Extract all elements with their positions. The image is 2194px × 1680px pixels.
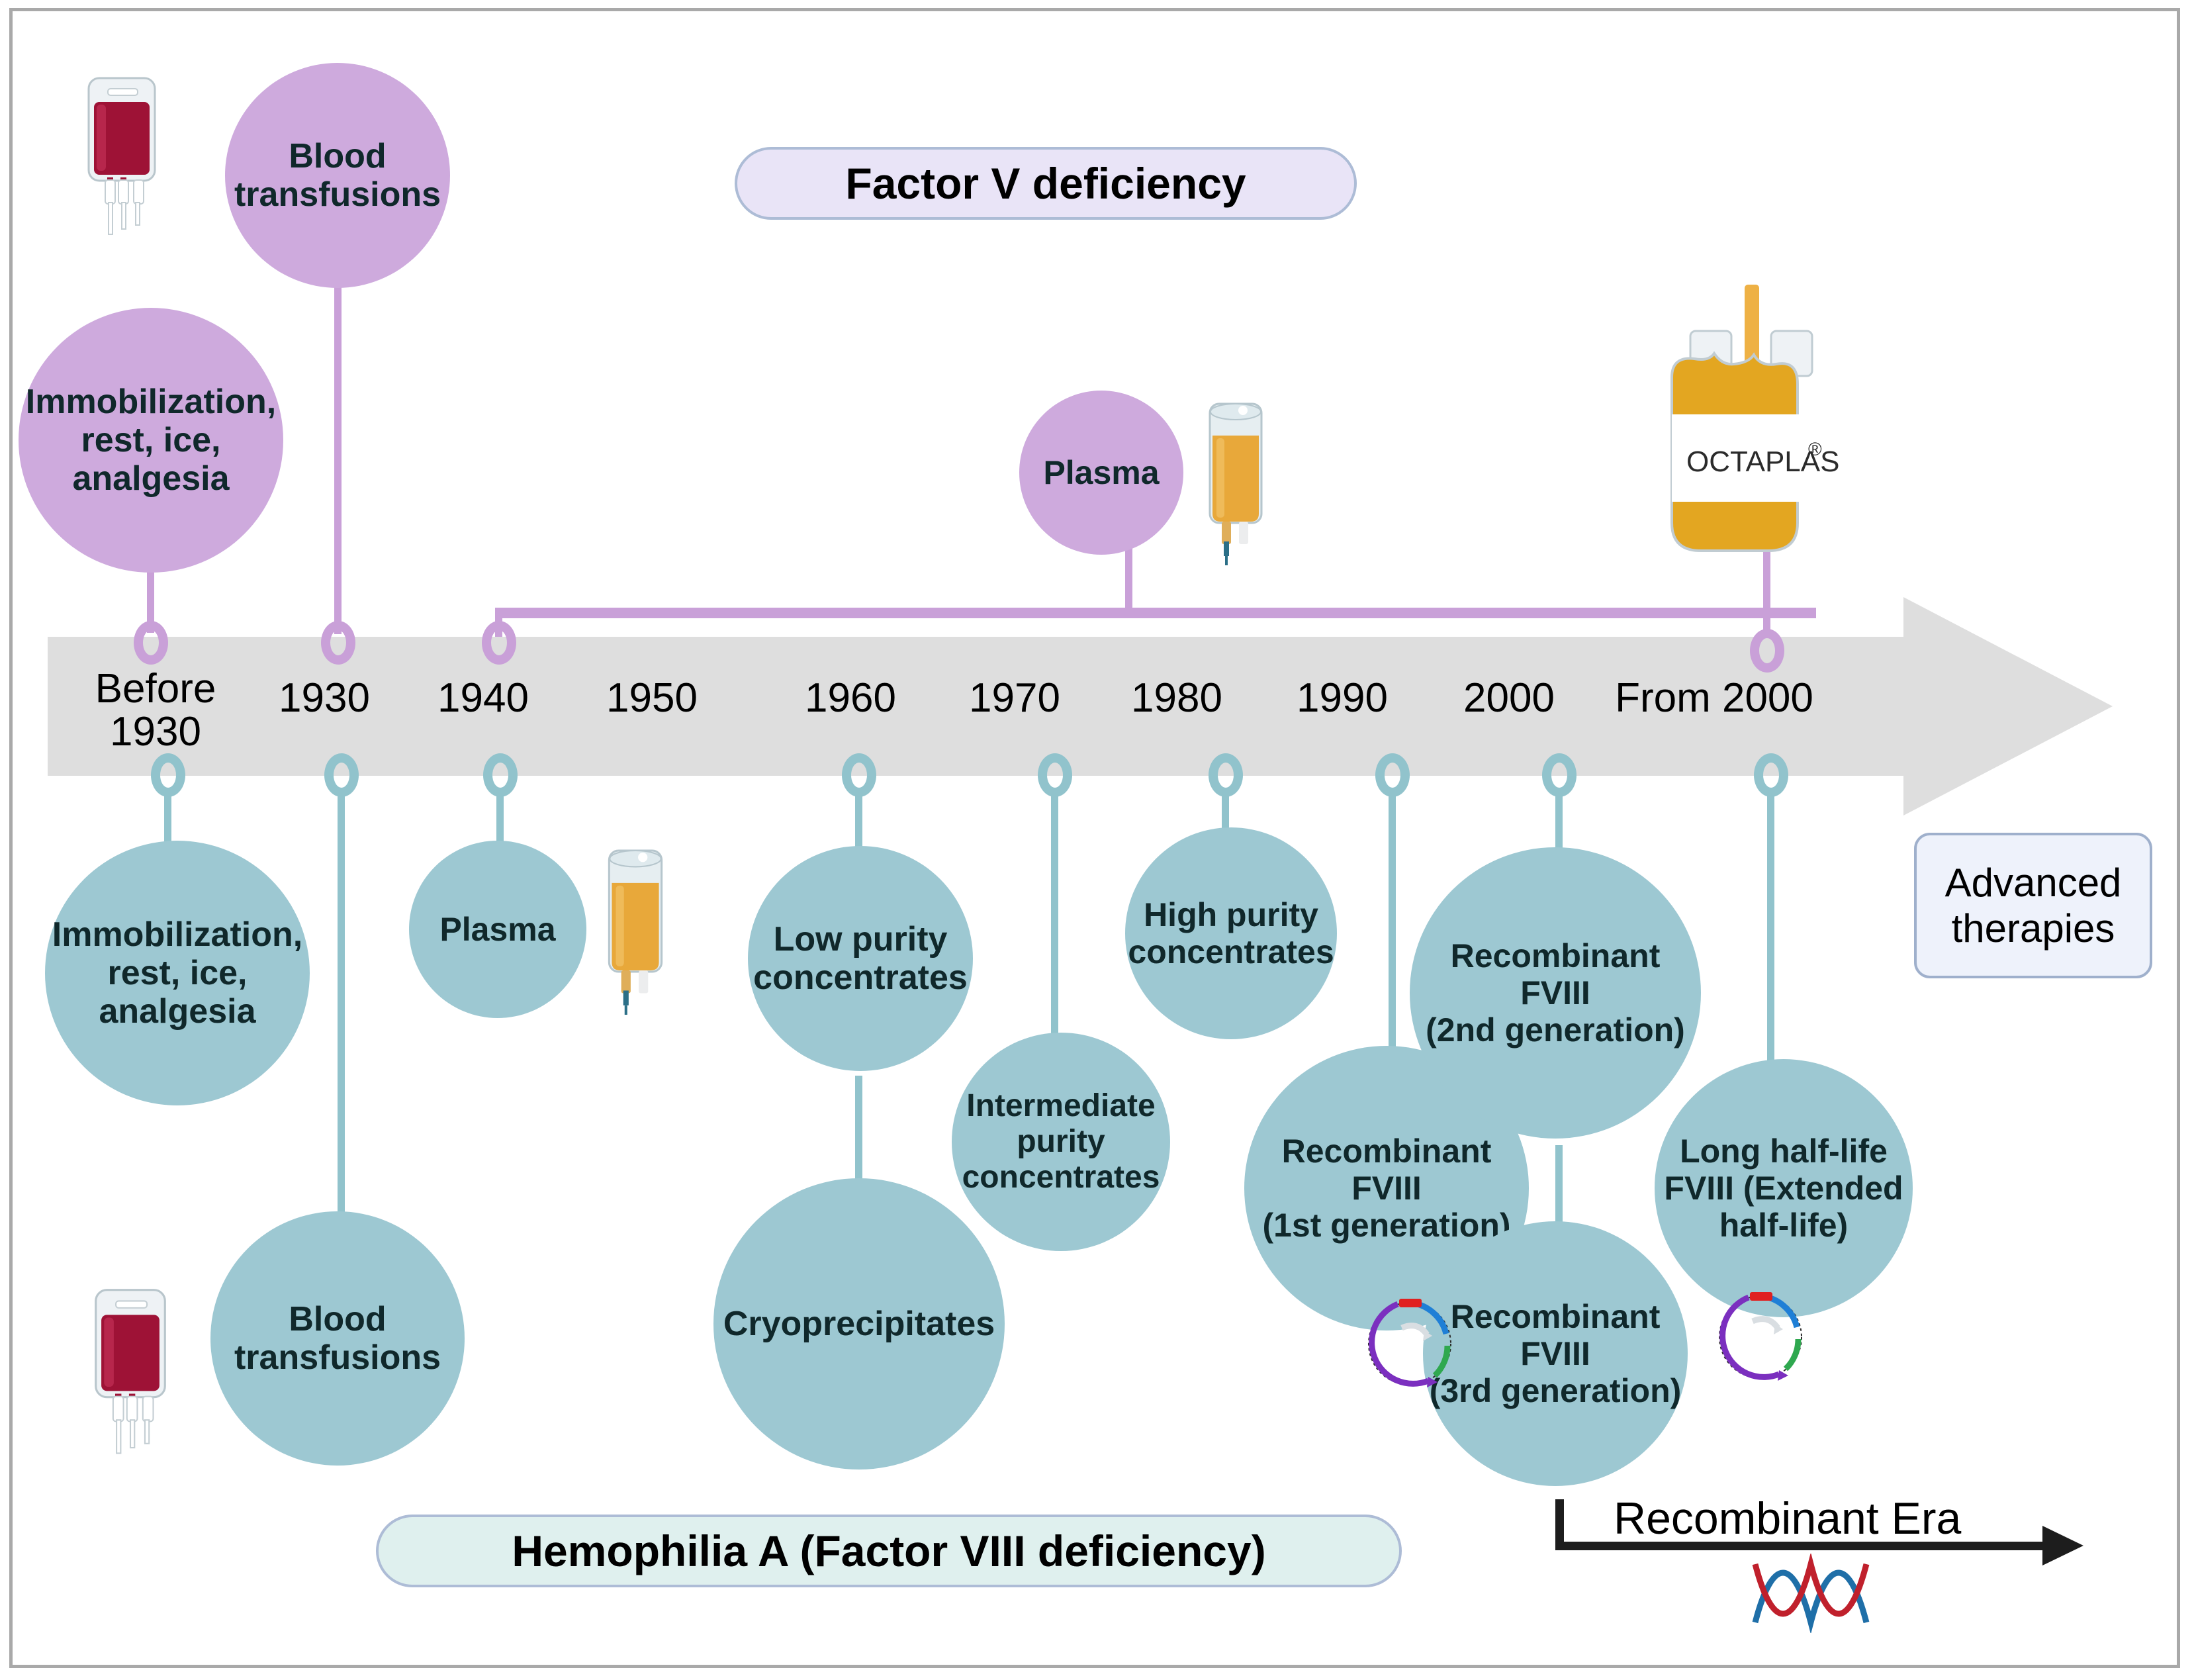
factor-v-horizontal-connector <box>495 608 1816 618</box>
hemophilia-ring-1990 <box>1375 753 1410 797</box>
hemophilia-stem-1990 <box>1389 792 1396 1056</box>
hemophilia-bubble-recombinant-2nd-gen[interactable]: Recombinant FVIII (2nd generation) <box>1410 847 1701 1139</box>
factor-v-ring-before-1930 <box>134 621 168 665</box>
hemophilia-bubble-intermediate-purity[interactable]: Intermediate purity concentrates <box>952 1033 1170 1251</box>
year-label-1970: 1970 <box>942 677 1087 720</box>
year-label-1940: 1940 <box>410 677 556 720</box>
year-label-1930: 1930 <box>251 677 397 720</box>
blood-bag-icon <box>78 73 165 238</box>
factor-v-bubble-plasma[interactable]: Plasma <box>1019 391 1183 555</box>
factor-v-ring-1930 <box>321 621 355 665</box>
hemophilia-ring-1930 <box>324 753 359 797</box>
figure-canvas: Before 1930 1930 1940 1950 1960 1970 198… <box>0 0 2194 1680</box>
factor-v-title-pill: Factor V deficiency <box>735 147 1357 220</box>
hemophilia-ring-1970 <box>1038 753 1072 797</box>
arrow-right-icon <box>2042 1526 2083 1565</box>
era-bracket-tick <box>1555 1499 1564 1547</box>
hemophilia-stem-from-2000 <box>1767 792 1774 1076</box>
plasmid-icon <box>1350 1284 1469 1403</box>
octaplas-bag-icon: OCTAPLAS ® <box>1652 285 1851 563</box>
factor-v-stem-1930 <box>334 277 342 634</box>
factor-v-bubble-immobilization[interactable]: Immobilization, rest, ice, analgesia <box>19 308 283 573</box>
factor-v-ring-from-2000 <box>1750 629 1784 673</box>
hemophilia-stem-1930 <box>338 792 345 1215</box>
year-label-before-1930: Before 1930 <box>73 667 238 753</box>
hemophilia-ring-1940 <box>483 753 518 797</box>
hemophilia-stem-1970 <box>1051 792 1058 1050</box>
factor-v-ring-1940 <box>482 621 516 665</box>
recombinant-era-group: Recombinant Era <box>1555 1493 2118 1645</box>
hemophilia-ring-1980 <box>1209 753 1243 797</box>
hemophilia-bubble-high-purity[interactable]: High purity concentrates <box>1125 827 1337 1039</box>
plasma-bag-icon <box>594 842 676 1021</box>
era-label: Recombinant Era <box>1614 1493 1961 1544</box>
hemophilia-bubble-low-purity[interactable]: Low purity concentrates <box>748 846 973 1071</box>
hemophilia-ring-2000 <box>1542 753 1577 797</box>
plasmid-icon <box>1701 1278 1820 1397</box>
plasma-bag-icon <box>1195 397 1276 569</box>
hemophilia-ring-before-1930 <box>151 753 185 797</box>
year-label-from-2000: From 2000 <box>1588 677 1840 720</box>
year-label-2000: 2000 <box>1436 677 1582 720</box>
year-label-1960: 1960 <box>778 677 923 720</box>
hemophilia-bubble-cryoprecipitates[interactable]: Cryoprecipitates <box>713 1178 1005 1470</box>
blood-bag-icon <box>85 1284 176 1458</box>
hemophilia-title-pill: Hemophilia A (Factor VIII deficiency) <box>376 1515 1402 1587</box>
hemophilia-stem-1960-cryo <box>855 1076 862 1182</box>
factor-v-bubble-blood-transfusions[interactable]: Blood transfusions <box>225 63 450 288</box>
svg-text:®: ® <box>1808 439 1822 459</box>
hemophilia-bubble-immobilization[interactable]: Immobilization, rest, ice, analgesia <box>45 841 310 1105</box>
timeline-arrowhead-icon <box>1903 597 2113 816</box>
hemophilia-ring-from-2000 <box>1754 753 1788 797</box>
hemophilia-bubble-blood-transfusions[interactable]: Blood transfusions <box>210 1211 465 1466</box>
factor-v-stem-1970-plasma <box>1125 543 1132 612</box>
hemophilia-bubble-plasma[interactable]: Plasma <box>409 841 586 1018</box>
year-label-1990: 1990 <box>1269 677 1415 720</box>
dna-helix-icon <box>1747 1554 1880 1633</box>
year-label-1980: 1980 <box>1104 677 1250 720</box>
advanced-therapies-box[interactable]: Advanced therapies <box>1914 833 2152 978</box>
hemophilia-ring-1960 <box>842 753 876 797</box>
year-label-1950: 1950 <box>579 677 725 720</box>
